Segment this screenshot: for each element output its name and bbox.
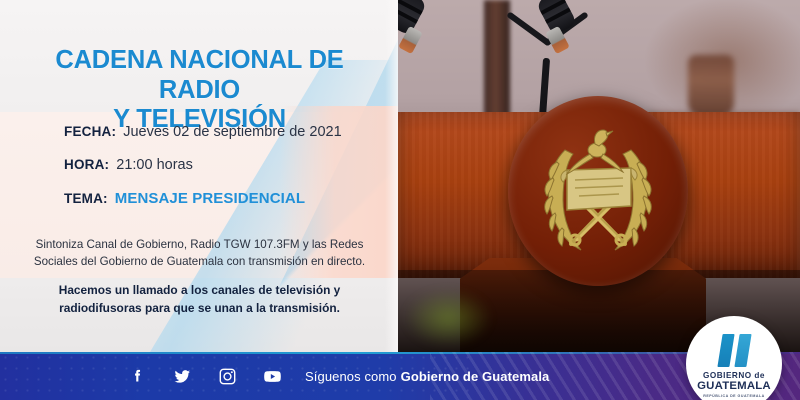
detail-row-fecha: FECHA: Jueves 02 de septiembre de 2021 <box>0 124 399 140</box>
coat-of-arms-emblem <box>508 96 688 286</box>
detail-value-fecha: Jueves 02 de septiembre de 2021 <box>123 124 341 140</box>
footer-bar: Síguenos como Gobierno de Guatemala <box>0 352 800 400</box>
detail-value-tema: MENSAJE PRESIDENCIAL <box>115 190 305 207</box>
photo-blurred-vase <box>688 55 734 117</box>
paragraph-tune-in: Sintoniza Canal de Gobierno, Radio TGW 1… <box>0 236 399 271</box>
social-links <box>128 352 282 400</box>
detail-label-tema: TEMA: <box>64 191 108 206</box>
logo-line-1: GOBIERNO de <box>703 372 765 380</box>
poster-canvas: CADENA NACIONAL DE RADIO Y TELEVISIÓN FE… <box>0 0 800 400</box>
instagram-icon[interactable] <box>218 367 237 386</box>
photo-wood-column <box>484 0 510 120</box>
follow-prefix: Síguenos como <box>305 369 397 384</box>
photo-green-blur <box>398 282 508 352</box>
detail-row-hora: HORA: 21:00 horas <box>0 157 399 173</box>
facebook-icon[interactable] <box>128 367 147 386</box>
paragraph-call-to-broadcasters: Hacemos un llamado a los canales de tele… <box>0 282 399 317</box>
follow-brand: Gobierno de Guatemala <box>401 369 550 384</box>
detail-label-fecha: FECHA: <box>64 124 116 139</box>
detail-label-hora: HORA: <box>64 157 109 172</box>
logo-line-3: REPÚBLICA DE GUATEMALA <box>703 395 765 399</box>
twitter-icon[interactable] <box>173 367 192 386</box>
detail-value-hora: 21:00 horas <box>116 157 193 173</box>
follow-us-text: Síguenos como Gobierno de Guatemala <box>305 352 549 400</box>
logo-line-2: GUATEMALA <box>697 380 771 393</box>
detail-row-tema: TEMA: MENSAJE PRESIDENCIAL <box>0 190 399 207</box>
details-list: FECHA: Jueves 02 de septiembre de 2021 H… <box>0 124 399 224</box>
poster-content: CADENA NACIONAL DE RADIO Y TELEVISIÓN FE… <box>0 0 399 352</box>
logo-bars-icon <box>720 334 749 367</box>
youtube-icon[interactable] <box>263 367 282 386</box>
page-title: CADENA NACIONAL DE RADIO Y TELEVISIÓN <box>0 46 399 135</box>
podium-photo <box>398 0 800 352</box>
title-line-1: CADENA NACIONAL DE RADIO <box>55 46 343 104</box>
